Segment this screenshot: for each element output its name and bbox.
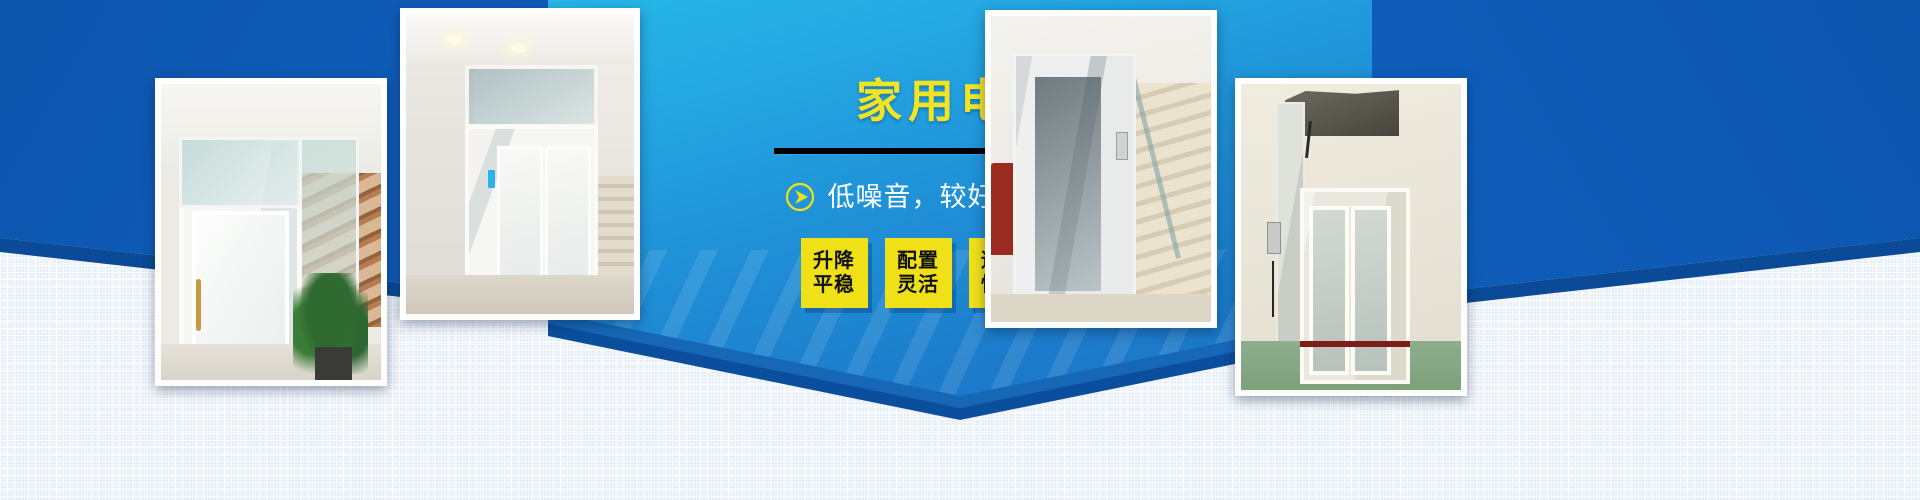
product-photo-1-image: [161, 84, 381, 380]
product-banner: 家用电梯 低噪音，较好的经济性。 升降 平稳 配置 灵活 适应 性强: [0, 0, 1920, 500]
product-photo-2[interactable]: [400, 8, 640, 320]
product-photo-1[interactable]: [155, 78, 387, 386]
feature-badge[interactable]: 配置 灵活: [885, 238, 952, 308]
feature-badge-line2: 平稳: [801, 272, 868, 296]
product-photo-4[interactable]: [1235, 78, 1467, 396]
feature-badge-line1: 升降: [801, 248, 868, 272]
circled-play-arrow-icon: [785, 182, 815, 212]
feature-badge[interactable]: 升降 平稳: [801, 238, 868, 308]
product-photo-3-image: [991, 16, 1211, 322]
product-photo-3[interactable]: [985, 10, 1217, 328]
product-photo-2-image: [406, 14, 634, 314]
feature-badge-line1: 配置: [885, 248, 952, 272]
feature-badge-line2: 灵活: [885, 272, 952, 296]
product-photo-4-image: [1241, 84, 1461, 390]
